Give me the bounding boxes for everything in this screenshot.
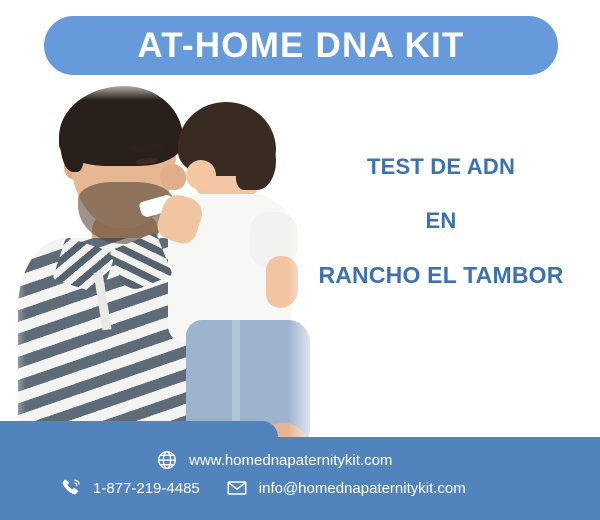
family-photo [0,78,322,460]
globe-icon [156,449,178,471]
headline-line-2: EN [296,210,586,232]
headline-line-3: RANCHO EL TAMBOR [296,264,586,287]
phone-label: 1-877-219-4485 [93,481,200,496]
man-hair [59,86,183,166]
contact-email[interactable]: info@homednapaternitykit.com [226,477,466,499]
headline-line-1: TEST DE ADN [296,156,586,178]
photo-illustration [0,78,322,460]
header-banner: AT-HOME DNA KIT [44,16,558,75]
envelope-icon [226,477,248,499]
headline-block: TEST DE ADN EN RANCHO EL TAMBOR [296,156,586,287]
child-arm-right [266,256,298,308]
contact-website[interactable]: www.homednapaternitykit.com [156,449,392,471]
footer-row-website: www.homednapaternitykit.com [156,449,392,471]
header-banner-title: AT-HOME DNA KIT [137,28,464,63]
footer-bar: www.homednapaternitykit.com 1-877-219-44… [0,437,600,520]
poster: AT-HOME DNA KIT [0,0,600,520]
child-cheek [186,160,216,190]
phone-icon [60,477,82,499]
website-label: www.homednapaternitykit.com [189,453,392,468]
footer-row-phone-email: 1-877-219-4485 info@homednapaternitykit.… [60,477,466,499]
contact-phone[interactable]: 1-877-219-4485 [60,477,200,499]
man-nose [160,164,186,190]
email-label: info@homednapaternitykit.com [259,481,466,496]
footer-notch [0,421,278,439]
